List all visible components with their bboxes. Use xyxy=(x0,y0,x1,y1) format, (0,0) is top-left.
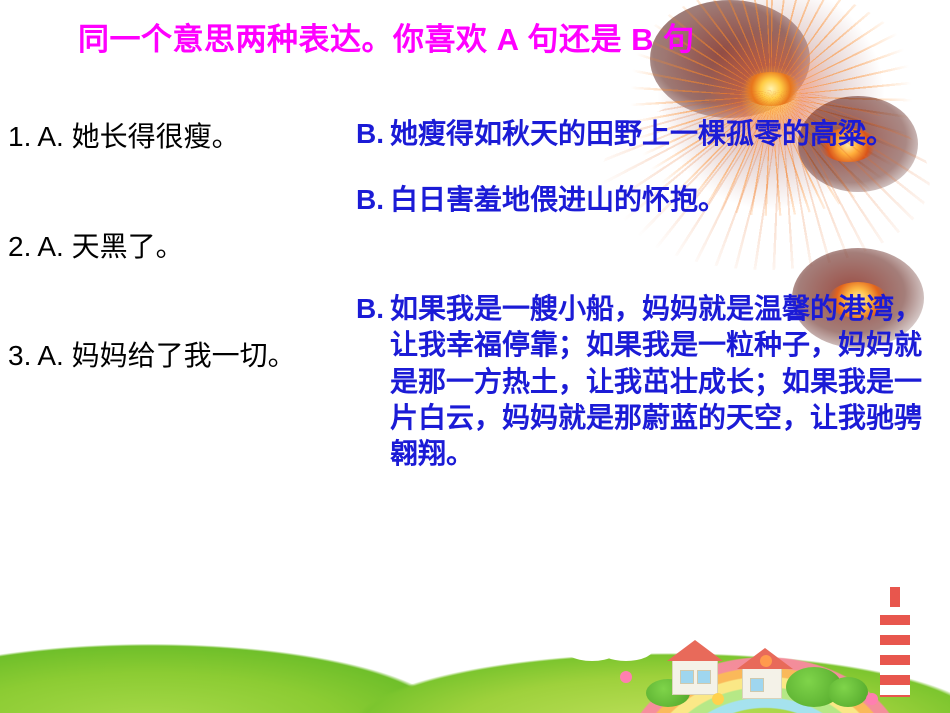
slide-canvas: 同一个意思两种表达。你喜欢 A 句还是 B 句 1. A. 她长得很瘦。 2. … xyxy=(0,0,950,713)
item-text: A. 天黑了。 xyxy=(37,228,348,266)
item-text: A. 妈妈给了我一切。 xyxy=(37,337,348,375)
grass-right-shape xyxy=(330,595,950,713)
item-marker: B. xyxy=(356,182,390,218)
bush-icon xyxy=(646,679,690,707)
cloud-icon xyxy=(560,627,624,661)
item-text: 如果我是一艘小船，妈妈就是温馨的港湾，让我幸福停靠；如果我是一粒种子，妈妈就是那… xyxy=(390,291,942,473)
bush-icon xyxy=(828,677,868,707)
flower-icon xyxy=(866,693,878,705)
item-text: A. 她长得很瘦。 xyxy=(37,118,348,156)
rainbow-icon xyxy=(600,578,930,713)
item-marker: B. xyxy=(356,291,390,327)
firework-core-icon xyxy=(742,72,800,106)
left-column: 1. A. 她长得很瘦。 2. A. 天黑了。 3. A. 妈妈给了我一切。 xyxy=(8,118,348,405)
right-column: B. 她瘦得如秋天的田野上一棵孤零的高粱。 B. 白日害羞地偎进山的怀抱。 B.… xyxy=(356,116,942,503)
list-item: 2. A. 天黑了。 xyxy=(8,228,348,266)
spacer xyxy=(8,186,348,228)
house-icon xyxy=(672,659,718,695)
slide-title: 同一个意思两种表达。你喜欢 A 句还是 B 句 xyxy=(78,18,768,62)
item-text: 白日害羞地偎进山的怀抱。 xyxy=(390,182,942,218)
item-marker: B. xyxy=(356,116,390,152)
list-item: 3. A. 妈妈给了我一切。 xyxy=(8,337,348,375)
landscape-decoration xyxy=(0,578,950,713)
tower-icon xyxy=(880,605,910,697)
bush-icon xyxy=(786,667,842,707)
item-text: 她瘦得如秋天的田野上一棵孤零的高粱。 xyxy=(390,116,942,152)
cloud-icon xyxy=(868,621,924,651)
flower-icon xyxy=(760,655,772,667)
window-shape xyxy=(680,670,694,684)
item-marker: 3. xyxy=(8,337,37,375)
list-item: B. 她瘦得如秋天的田野上一棵孤零的高粱。 xyxy=(356,116,942,152)
flower-icon xyxy=(620,671,632,683)
flower-icon xyxy=(712,693,724,705)
spacer xyxy=(356,249,942,291)
list-item: B. 如果我是一艘小船，妈妈就是温馨的港湾，让我幸福停靠；如果我是一粒种子，妈妈… xyxy=(356,291,942,473)
house-icon xyxy=(742,667,782,699)
item-marker: 2. xyxy=(8,228,37,266)
item-marker: 1. xyxy=(8,118,37,156)
list-item: B. 白日害羞地偎进山的怀抱。 xyxy=(356,182,942,218)
window-shape xyxy=(750,678,764,692)
list-item: 1. A. 她长得很瘦。 xyxy=(8,118,348,156)
grass-left-shape xyxy=(0,593,560,713)
spacer xyxy=(8,295,348,337)
window-shape xyxy=(697,670,711,684)
